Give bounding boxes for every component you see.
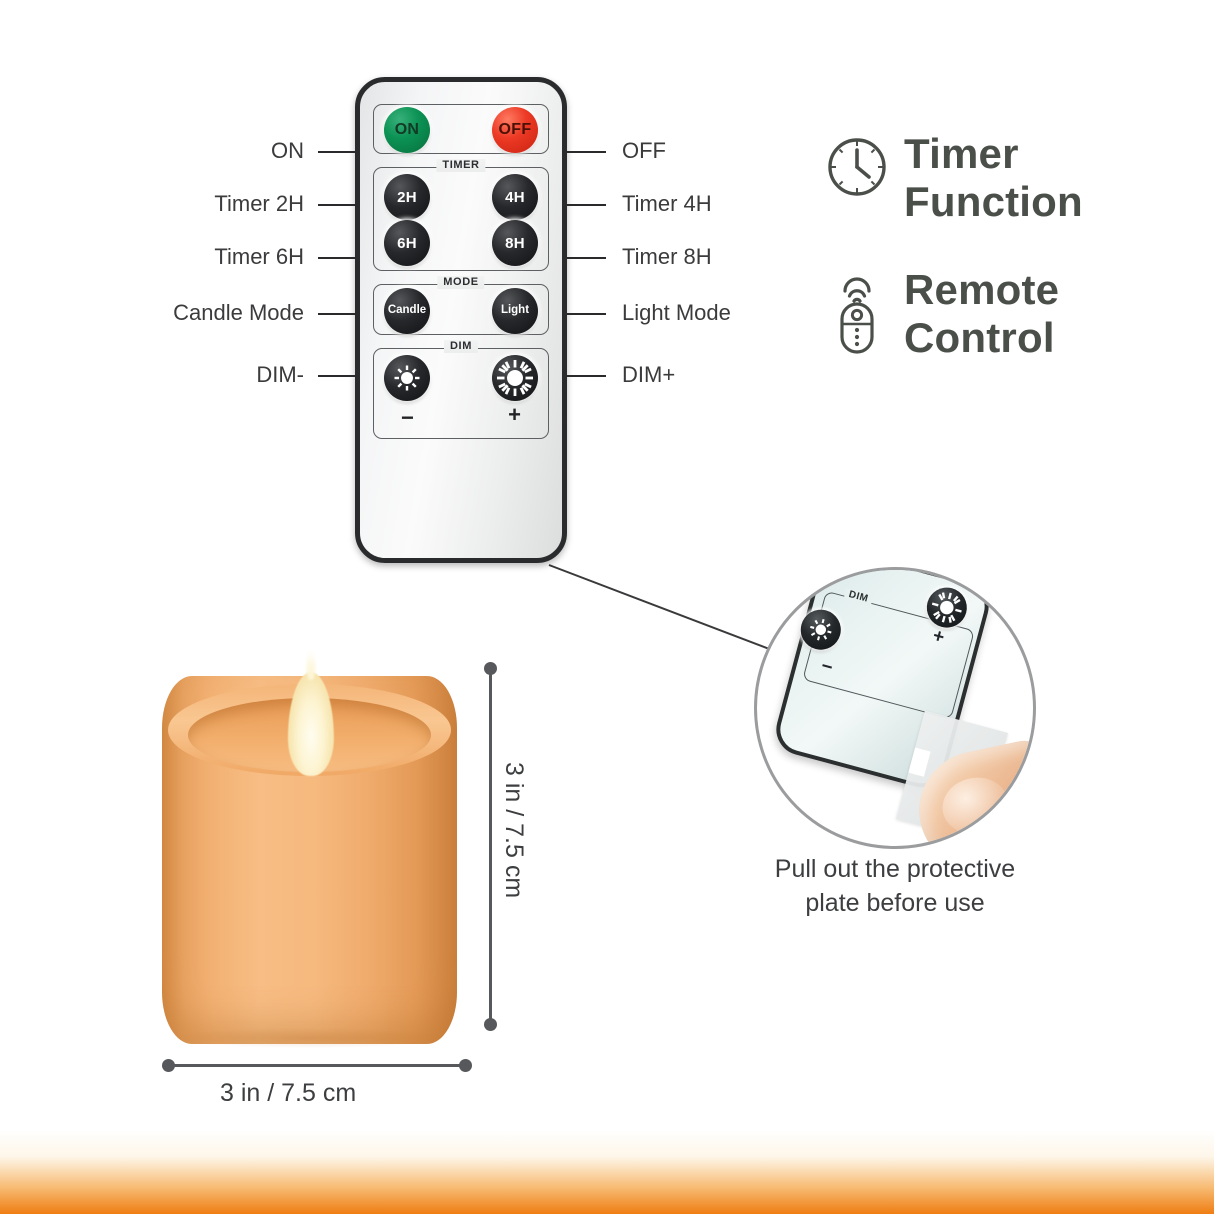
inset-dim-plus-button[interactable] bbox=[922, 583, 971, 632]
on-button[interactable]: ON bbox=[384, 107, 430, 153]
mode-group-title: MODE bbox=[437, 276, 484, 289]
protective-plate-inset: DIM bbox=[754, 567, 1036, 849]
width-dimension-line bbox=[168, 1064, 465, 1067]
callout-off: OFF bbox=[622, 138, 666, 164]
height-dimension-label: 3 in / 7.5 cm bbox=[500, 762, 528, 898]
sun-large-icon bbox=[927, 588, 966, 627]
leader-line-timer-6h bbox=[318, 257, 358, 259]
inset-caption-line1: Pull out the protective bbox=[700, 852, 1090, 886]
candle-base-shadow bbox=[172, 1028, 447, 1048]
timer-4h-label: 4H bbox=[505, 190, 525, 205]
callout-light-mode: Light Mode bbox=[622, 300, 731, 326]
inset-dim-title: DIM bbox=[844, 588, 874, 606]
feature-timer-function: Timer Function bbox=[826, 130, 1083, 226]
off-button-label: OFF bbox=[499, 122, 532, 138]
dim-plus-sign: + bbox=[508, 404, 521, 426]
leader-line-light-mode bbox=[566, 313, 606, 315]
timer-8h-label: 8H bbox=[505, 236, 525, 251]
callout-candle-mode: Candle Mode bbox=[173, 300, 304, 326]
leader-line-dim-plus bbox=[566, 375, 606, 377]
dim-minus-sign: − bbox=[401, 407, 414, 429]
light-mode-label: Light bbox=[501, 305, 529, 317]
inset-caption: Pull out the protective plate before use bbox=[700, 852, 1090, 920]
timer-2h-button[interactable]: 2H bbox=[384, 174, 430, 220]
callout-timer-2h: Timer 2H bbox=[214, 191, 304, 217]
timer-6h-label: 6H bbox=[397, 236, 417, 251]
width-dimension-dot-left bbox=[162, 1059, 175, 1072]
timer-8h-button[interactable]: 8H bbox=[492, 220, 538, 266]
height-dimension-line bbox=[489, 668, 492, 1023]
width-dimension-dot-right bbox=[459, 1059, 472, 1072]
candle-product-image bbox=[162, 648, 457, 1048]
inset-caption-line2: plate before use bbox=[700, 886, 1090, 920]
callout-timer-6h: Timer 6H bbox=[214, 244, 304, 270]
callout-on: ON bbox=[271, 138, 304, 164]
on-button-label: ON bbox=[395, 122, 420, 138]
candle-body bbox=[162, 676, 457, 1044]
feature-remote-line2: Control bbox=[904, 314, 1059, 362]
mode-group: MODE Candle Light bbox=[373, 284, 549, 335]
candle-mode-label: Candle bbox=[388, 305, 426, 317]
feature-timer-line1: Timer bbox=[904, 130, 1083, 178]
dim-group: DIM bbox=[373, 348, 549, 439]
feature-remote-text: Remote Control bbox=[904, 266, 1059, 362]
leader-line-dim-minus bbox=[318, 375, 358, 377]
sun-small-icon bbox=[805, 614, 837, 646]
leader-line-timer-4h bbox=[566, 204, 606, 206]
height-dimension-dot-top bbox=[484, 662, 497, 675]
timer-2h-label: 2H bbox=[397, 190, 417, 205]
remote-signal-icon bbox=[826, 272, 888, 359]
fingernail bbox=[937, 772, 1013, 840]
inset-dim-minus-button[interactable] bbox=[796, 605, 845, 654]
callout-timer-8h: Timer 8H bbox=[622, 244, 712, 270]
leader-line-candle-mode bbox=[318, 313, 358, 315]
infographic-canvas: ON OFF TIMER 2H 4H 6H 8H bbox=[0, 0, 1214, 1214]
dim-minus-button[interactable] bbox=[384, 355, 430, 401]
candle-flame-tip bbox=[306, 650, 315, 680]
leader-line-off bbox=[566, 151, 606, 153]
timer-6h-button[interactable]: 6H bbox=[384, 220, 430, 266]
height-dimension-dot-bottom bbox=[484, 1018, 497, 1031]
sun-large-icon bbox=[496, 359, 534, 397]
feature-timer-text: Timer Function bbox=[904, 130, 1083, 226]
leader-line-on bbox=[318, 151, 358, 153]
inset-dim-plus-sign: + bbox=[930, 625, 946, 649]
dim-group-title: DIM bbox=[444, 340, 478, 353]
feature-remote-control: Remote Control bbox=[826, 266, 1059, 362]
timer-group: TIMER 2H 4H 6H 8H bbox=[373, 167, 549, 271]
clock-icon bbox=[826, 136, 888, 203]
callout-dim-minus: DIM- bbox=[256, 362, 304, 388]
candle-mode-button[interactable]: Candle bbox=[384, 288, 430, 334]
off-button[interactable]: OFF bbox=[492, 107, 538, 153]
onoff-group: ON OFF bbox=[373, 104, 549, 154]
leader-line-timer-2h bbox=[318, 204, 358, 206]
width-dimension-label: 3 in / 7.5 cm bbox=[220, 1079, 356, 1107]
light-mode-button[interactable]: Light bbox=[492, 288, 538, 334]
feature-timer-line2: Function bbox=[904, 178, 1083, 226]
inset-dim-group: DIM bbox=[802, 591, 975, 720]
sun-small-icon bbox=[392, 363, 422, 393]
dim-plus-button[interactable] bbox=[492, 355, 538, 401]
feature-remote-line1: Remote bbox=[904, 266, 1059, 314]
timer-4h-button[interactable]: 4H bbox=[492, 174, 538, 220]
inset-dim-minus-sign: − bbox=[819, 655, 835, 679]
remote-control-body: ON OFF TIMER 2H 4H 6H 8H bbox=[355, 77, 567, 563]
callout-dim-plus: DIM+ bbox=[622, 362, 675, 388]
leader-line-timer-8h bbox=[566, 257, 606, 259]
callout-timer-4h: Timer 4H bbox=[622, 191, 712, 217]
bottom-gradient-band bbox=[0, 1130, 1214, 1214]
timer-group-title: TIMER bbox=[436, 159, 485, 172]
